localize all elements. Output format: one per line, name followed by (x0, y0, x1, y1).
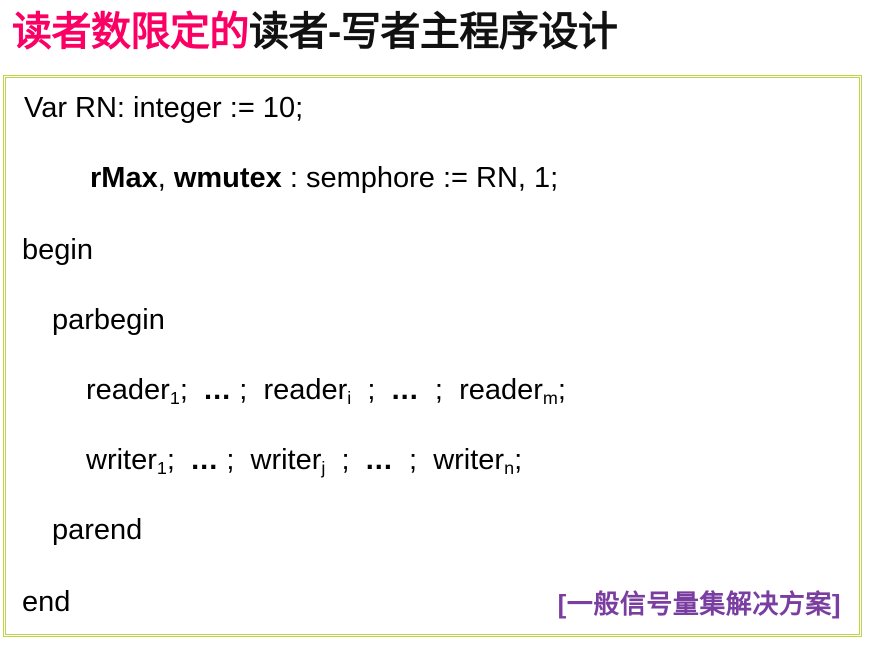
code-subscript-reader-mid: i (347, 388, 351, 408)
code-subscript-reader-first: 1 (170, 388, 180, 408)
code-process-reader-mid-name: reader (263, 374, 347, 406)
code-semicolon-3: ; (367, 374, 375, 406)
code-semicolon-8: ; (342, 444, 350, 476)
code-line-parbegin: parbegin (52, 306, 165, 335)
code-text-semaphore-type: : semphore := RN, 1; (282, 162, 558, 194)
code-semicolon-5: ; (558, 374, 566, 406)
code-ellipsis-2: ... (392, 374, 419, 406)
code-process-reader-last-name: reader (459, 374, 543, 406)
code-keyword-end: end (22, 586, 70, 618)
code-semicolon-10: ; (514, 444, 522, 476)
code-process-reader-last: readerm; (459, 374, 566, 406)
code-keyword-begin: begin (22, 234, 93, 266)
code-semicolon-1: ; (180, 374, 188, 406)
code-line-semaphore-declaration: rMax, wmutex : semphore := RN, 1; (90, 164, 558, 193)
code-text-var-decl: Var RN: integer := 10; (24, 92, 303, 124)
code-semicolon-2: ; (239, 374, 247, 406)
page-title-highlight: 读者数限定的 (12, 10, 249, 54)
code-semicolon-6: ; (167, 444, 175, 476)
code-ellipsis-3: ... (191, 444, 218, 476)
code-process-writer-first: writer1; (86, 444, 175, 476)
code-block-panel: Var RN: integer := 10; rMax, wmutex : se… (3, 75, 862, 637)
page-title: 读者数限定的读者-写者主程序设计 (12, 2, 860, 64)
code-semicolon-7: ; (226, 444, 234, 476)
solution-note-tag: [一般信号量集解决方案] (558, 584, 841, 621)
code-process-reader-mid: readeri (263, 374, 351, 406)
code-subscript-reader-last: m (543, 388, 558, 408)
code-process-writer-last: writern; (433, 444, 522, 476)
code-process-writer-last-name: writer (433, 444, 504, 476)
code-subscript-writer-last: n (504, 458, 514, 478)
code-identifier-rmax: rMax (90, 162, 158, 194)
code-semicolon-4: ; (435, 374, 443, 406)
code-line-var-declaration: Var RN: integer := 10; (24, 94, 303, 123)
code-identifier-wmutex: wmutex (174, 162, 282, 194)
code-keyword-parend: parend (52, 514, 142, 546)
code-separator-comma: , (158, 162, 174, 194)
code-line-reader-processes: reader1; ... ; readeri ; ... ; readerm; (86, 376, 566, 405)
code-line-parend: parend (52, 516, 142, 545)
code-keyword-parbegin: parbegin (52, 304, 165, 336)
code-process-writer-mid-name: writer (251, 444, 322, 476)
code-subscript-writer-first: 1 (157, 458, 167, 478)
code-process-reader-first: reader1; (86, 374, 188, 406)
code-process-writer-mid: writerj (251, 444, 326, 476)
code-ellipsis-1: ... (204, 374, 231, 406)
code-line-writer-processes: writer1; ... ; writerj ; ... ; writern; (86, 446, 522, 475)
code-semicolon-9: ; (409, 444, 417, 476)
code-process-writer-first-name: writer (86, 444, 157, 476)
page-title-rest: 读者-写者主程序设计 (249, 10, 617, 54)
code-process-reader-first-name: reader (86, 374, 170, 406)
code-line-begin: begin (22, 236, 93, 265)
code-subscript-writer-mid: j (321, 458, 325, 478)
code-ellipsis-4: ... (366, 444, 393, 476)
code-line-end: end (22, 588, 70, 617)
